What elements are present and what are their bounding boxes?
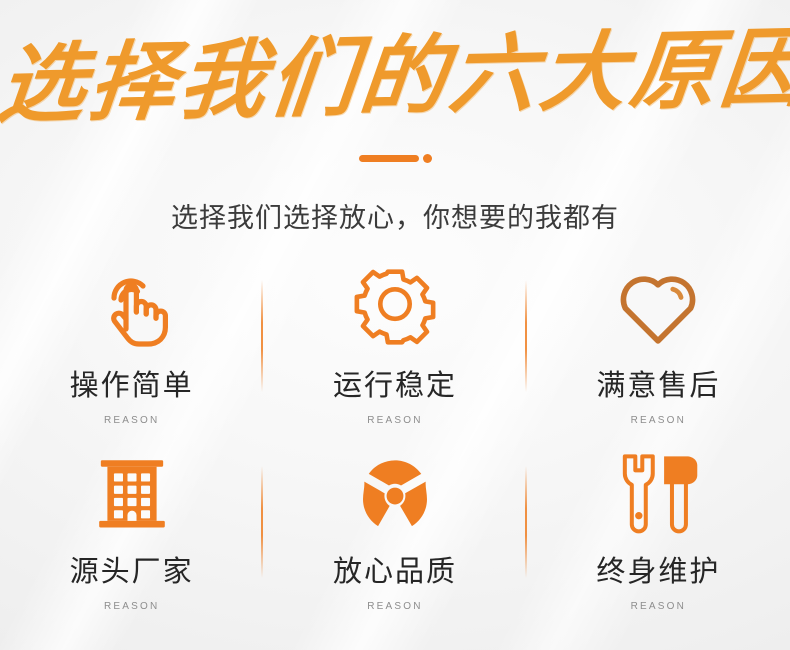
reason-sub: REASON <box>367 601 422 612</box>
divider-dot-icon <box>423 154 432 163</box>
page-title-wrap: 选择我们的六大原因 <box>0 34 790 120</box>
reason-label: 源头厂家 <box>70 548 194 590</box>
radiation-quality-icon <box>352 450 438 536</box>
reason-sub: REASON <box>104 415 159 426</box>
wrench-hammer-icon <box>610 450 706 536</box>
reason-item-source-factory[interactable]: 源头厂家 REASON <box>0 444 263 630</box>
reason-sub: REASON <box>631 415 686 426</box>
reason-label: 满意售后 <box>596 362 720 404</box>
reason-sub: REASON <box>104 601 159 612</box>
touch-hand-icon <box>90 264 174 350</box>
reason-sub: REASON <box>367 415 422 426</box>
reason-label: 操作简单 <box>70 362 194 404</box>
reason-item-stable-operation[interactable]: 运行稳定 REASON <box>263 258 526 444</box>
reason-label: 终身维护 <box>596 548 720 590</box>
page-title: 选择我们的六大原因 <box>0 26 790 129</box>
reason-sub: REASON <box>631 601 686 612</box>
reason-label: 运行稳定 <box>333 362 457 404</box>
title-divider <box>0 150 790 162</box>
reason-item-after-sales[interactable]: 满意售后 REASON <box>527 258 790 444</box>
reason-label: 放心品质 <box>333 548 457 590</box>
page-subtitle: 选择我们选择放心，你想要的我都有 <box>0 196 790 235</box>
divider-bar-icon <box>359 155 419 162</box>
gear-icon <box>353 264 437 350</box>
reason-item-operation-simple[interactable]: 操作简单 REASON <box>0 258 263 444</box>
heart-icon <box>614 264 702 350</box>
reason-item-quality[interactable]: 放心品质 REASON <box>263 444 526 630</box>
factory-building-icon <box>91 450 173 536</box>
reasons-grid: 操作简单 REASON 运行稳定 REASON 满意售后 R <box>0 258 790 630</box>
promo-page: 选择我们的六大原因 选择我们选择放心，你想要的我都有 <box>0 0 790 650</box>
reason-item-lifetime-maintenance[interactable]: 终身维护 REASON <box>527 444 790 630</box>
